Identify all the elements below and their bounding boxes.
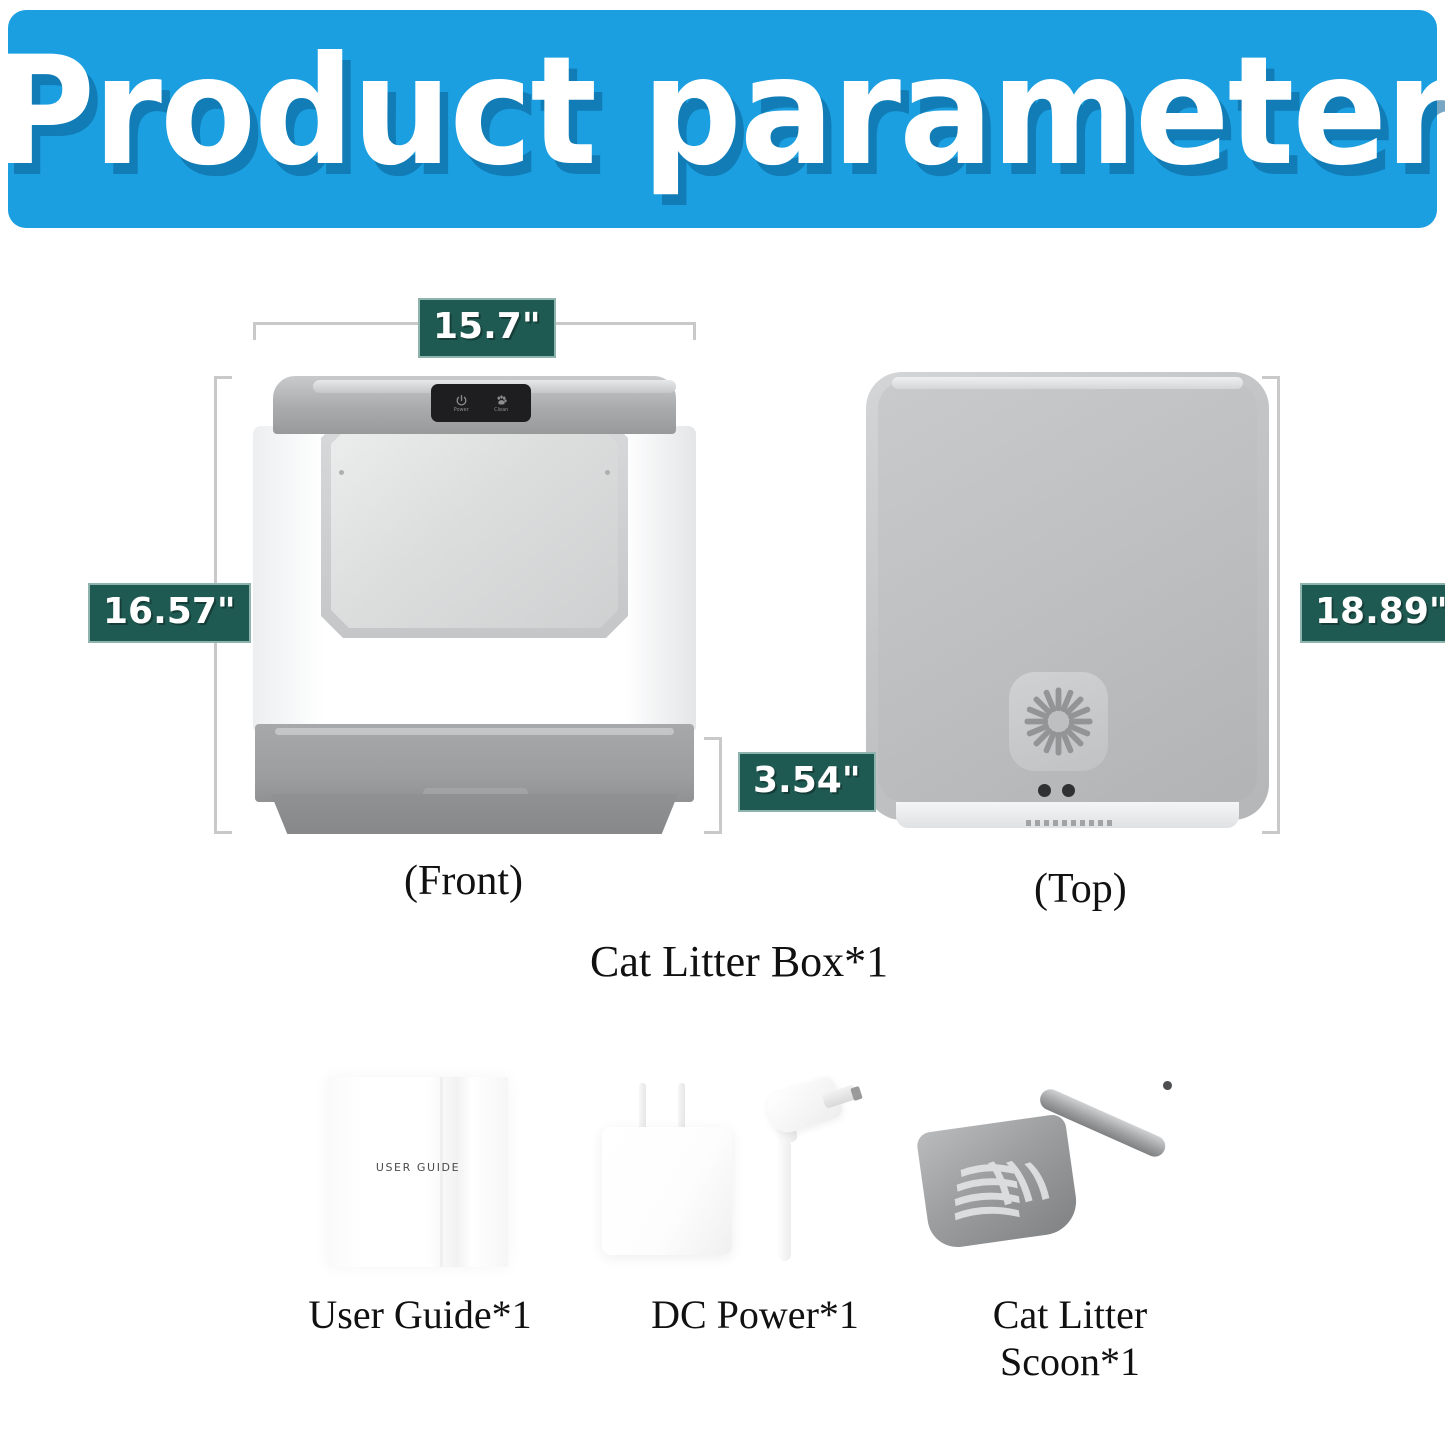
indicator-dot-left bbox=[1038, 784, 1051, 797]
plug-prong-left bbox=[639, 1083, 646, 1131]
user-guide-cover-text: USER GUIDE bbox=[328, 1161, 508, 1174]
accessory-label-line-1: DC Power*1 bbox=[590, 1291, 920, 1338]
scoop-illustration bbox=[905, 1065, 1235, 1280]
clean-button: Clean bbox=[494, 394, 508, 413]
control-panel: Power Clean bbox=[431, 384, 531, 422]
caption-front-view: (Front) bbox=[404, 857, 523, 905]
accessory-label-dc-power: DC Power*1 bbox=[590, 1291, 920, 1338]
power-button-caption: Power bbox=[454, 408, 469, 413]
power-button: Power bbox=[454, 394, 469, 413]
header-banner: Product parameter bbox=[8, 10, 1437, 228]
page-title: Product parameter bbox=[58, 10, 1387, 228]
caption-top-view: (Top) bbox=[1034, 865, 1127, 913]
accessory-label-scoop: Cat Litter Scoon*1 bbox=[905, 1291, 1235, 1385]
front-view-illustration: Power Clean bbox=[253, 376, 696, 834]
power-adapter-brick bbox=[602, 1127, 732, 1255]
indicator-dot-right bbox=[1062, 784, 1075, 797]
window-screw-right bbox=[605, 470, 610, 475]
dimension-label-width: 15.7" bbox=[418, 298, 556, 358]
power-icon bbox=[455, 394, 468, 407]
window-screw-left bbox=[339, 470, 344, 475]
accessory-dc-power: DC Power*1 bbox=[590, 1065, 920, 1280]
caption-product: Cat Litter Box*1 bbox=[590, 936, 888, 987]
front-base-foot bbox=[271, 794, 678, 834]
accessory-label-user-guide: User Guide*1 bbox=[255, 1291, 585, 1338]
paw-icon bbox=[495, 394, 508, 407]
dc-cable bbox=[778, 1139, 791, 1261]
dimension-label-base-height: 3.54" bbox=[738, 752, 876, 812]
dimension-label-height: 16.57" bbox=[88, 583, 251, 643]
scoop-slot-pattern bbox=[915, 1113, 1081, 1256]
accessory-cat-litter-scoop: Cat Litter Scoon*1 bbox=[905, 1065, 1235, 1280]
plug-prong-right bbox=[678, 1083, 685, 1131]
accessory-label-line-1: User Guide*1 bbox=[255, 1291, 585, 1338]
fan-vent-icon bbox=[1016, 679, 1101, 769]
accessory-user-guide: USER GUIDE User Guide*1 bbox=[255, 1065, 585, 1280]
top-lip-marking bbox=[1026, 820, 1116, 826]
accessory-label-line-1: Cat Litter bbox=[905, 1291, 1235, 1338]
dc-power-illustration bbox=[590, 1065, 920, 1280]
user-guide-illustration: USER GUIDE bbox=[255, 1065, 585, 1280]
scoop-handle-hole bbox=[1162, 1080, 1174, 1092]
base-height-dimension-bracket bbox=[704, 737, 722, 834]
top-view-illustration bbox=[866, 372, 1269, 834]
drawer-highlight bbox=[275, 728, 674, 735]
dimension-label-depth: 18.89" bbox=[1300, 583, 1445, 643]
front-window-glass bbox=[331, 426, 618, 628]
clean-button-caption: Clean bbox=[494, 408, 508, 413]
accessory-label-line-2: Scoon*1 bbox=[905, 1338, 1235, 1385]
top-bevel-highlight bbox=[892, 377, 1243, 389]
